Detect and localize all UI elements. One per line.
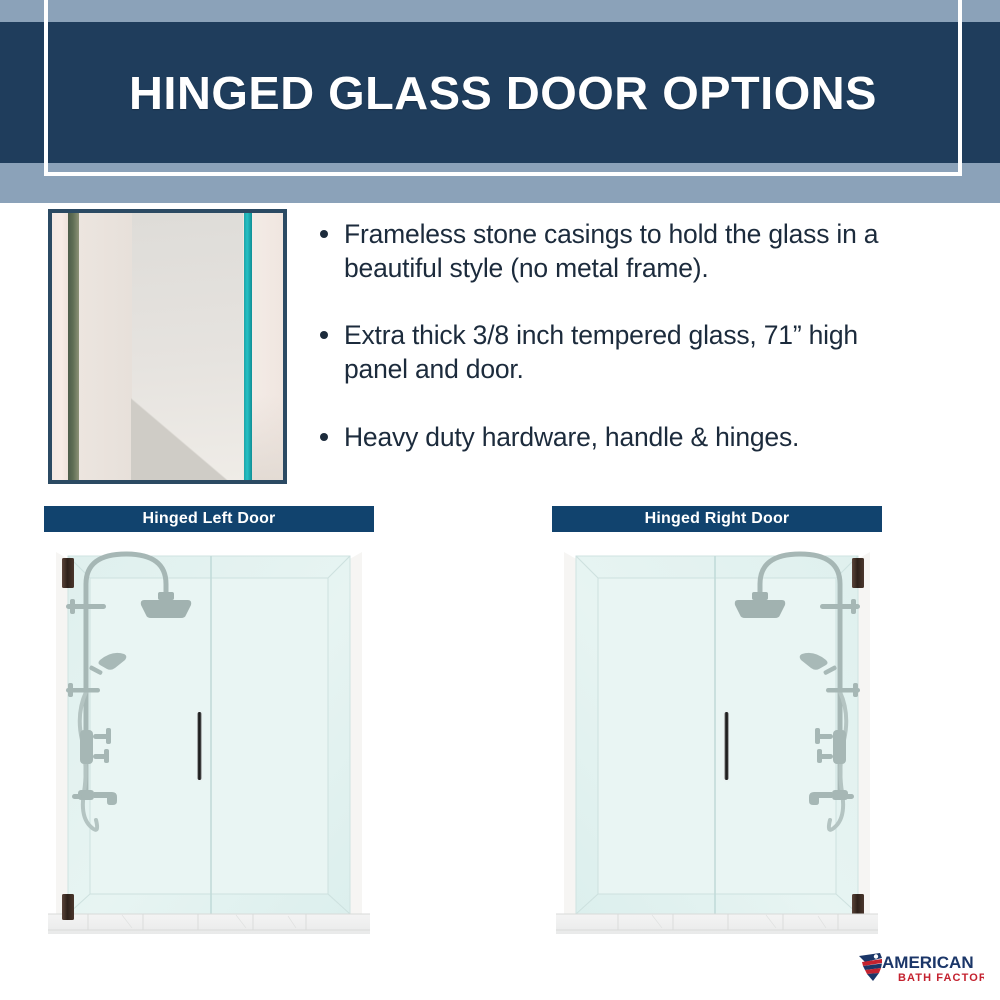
feature-text: Extra thick 3/8 inch tempered glass, 71”… xyxy=(344,320,858,384)
list-item: Heavy duty hardware, handle & hinges. xyxy=(318,421,918,455)
flag-shield-icon xyxy=(859,953,882,981)
option-label-right-door: Hinged Right Door xyxy=(552,506,882,532)
bullet-dot-icon xyxy=(320,433,328,441)
photo-glass-edge xyxy=(244,213,252,480)
logo-primary-text: AMERICAN xyxy=(882,953,974,972)
header-top-band xyxy=(0,0,1000,22)
door-handle xyxy=(196,710,203,782)
feature-text: Frameless stone casings to hold the glas… xyxy=(344,219,878,283)
header-bottom-band xyxy=(0,163,1000,203)
list-item: Frameless stone casings to hold the glas… xyxy=(318,218,918,285)
infographic-page: HINGED GLASS DOOR OPTIONS Frameless ston… xyxy=(0,0,1000,1000)
brand-logo[interactable]: AMERICAN BATH FACTORY xyxy=(856,950,984,988)
bullet-dot-icon xyxy=(320,230,328,238)
photo-right-wall xyxy=(252,213,283,480)
product-closeup-photo xyxy=(48,209,287,484)
photo-stone-casing xyxy=(68,213,78,480)
list-item: Extra thick 3/8 inch tempered glass, 71”… xyxy=(318,319,918,386)
photo-floor-shadow xyxy=(131,384,244,480)
bullet-dot-icon xyxy=(320,331,328,339)
illustration-hinged-left-door xyxy=(48,542,370,934)
option-label-left-door: Hinged Left Door xyxy=(44,506,374,532)
feature-text: Heavy duty hardware, handle & hinges. xyxy=(344,422,799,452)
illustration-hinged-right-door xyxy=(556,542,878,934)
door-handle xyxy=(723,710,730,782)
page-title: HINGED GLASS DOOR OPTIONS xyxy=(35,22,971,163)
feature-list: Frameless stone casings to hold the glas… xyxy=(318,218,918,454)
logo-secondary-text: BATH FACTORY xyxy=(898,972,984,984)
photo-glass-panel xyxy=(79,213,132,480)
photo-left-wall xyxy=(52,213,68,480)
